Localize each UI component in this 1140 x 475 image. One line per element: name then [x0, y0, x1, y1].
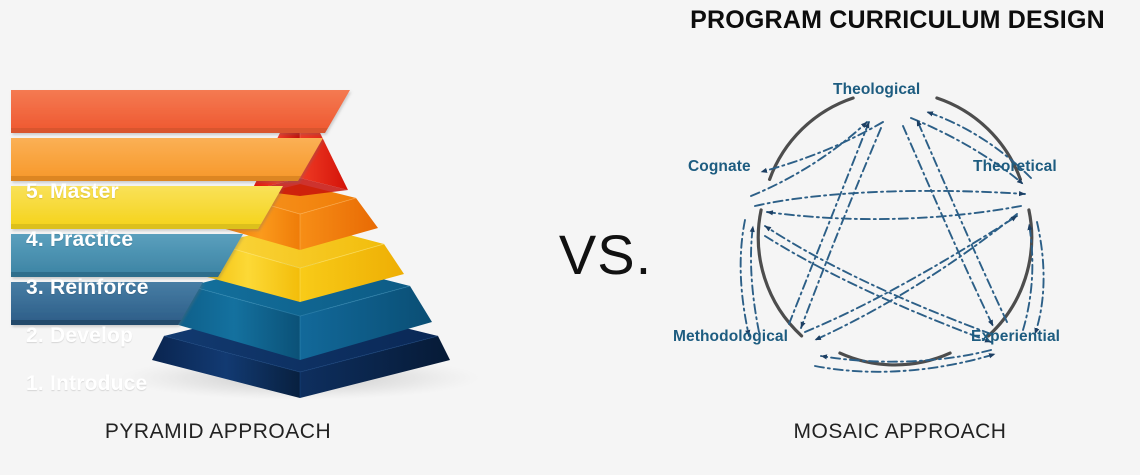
link-theological-methodological: [801, 128, 881, 328]
mosaic-approach-figure: Theological Theoretical Experiential Met…: [655, 60, 1135, 400]
node-label-theological[interactable]: Theological: [833, 81, 920, 99]
pyramid-approach-figure: 5. Master 4. Practice 3. Reinforce 2. De…: [0, 78, 520, 408]
link-cognate-theological: [751, 122, 867, 196]
link-theoretical-cognate: [767, 206, 1021, 219]
arc-methodological-cognate: [758, 210, 801, 336]
pyramid-approach-caption: PYRAMID APPROACH: [28, 420, 408, 444]
link-cognate-methodological: [741, 220, 749, 336]
versus-label: VS.: [548, 222, 663, 287]
arc-cognate-theological: [770, 98, 854, 179]
band-master[interactable]: [11, 90, 350, 133]
pyramid-graphic: [0, 78, 520, 408]
band-introduce[interactable]: [11, 282, 203, 325]
node-label-methodological[interactable]: Methodological: [673, 328, 788, 346]
link-experiential-cognate: [765, 226, 991, 334]
band-reinforce[interactable]: [11, 186, 283, 229]
page-title: PROGRAM CURRICULUM DESIGN: [660, 6, 1135, 35]
mosaic-approach-caption: MOSAIC APPROACH: [690, 420, 1110, 444]
node-label-cognate[interactable]: Cognate: [688, 158, 751, 176]
node-label-experiential[interactable]: Experiential: [971, 328, 1060, 346]
band-practice[interactable]: [11, 138, 323, 181]
link-experiential-theological: [917, 120, 1007, 322]
link-methodological-experiential: [815, 354, 995, 372]
link-cognate-theoretical: [755, 191, 1025, 206]
link-cognate-experiential: [765, 236, 991, 342]
node-label-theoretical[interactable]: Theoretical: [973, 158, 1057, 176]
link-theoretical-experiential: [1035, 222, 1044, 334]
link-theological-experiential: [903, 126, 993, 326]
mosaic-graphic: [655, 60, 1135, 400]
arc-theoretical-experiential: [988, 210, 1031, 336]
band-develop[interactable]: [11, 234, 243, 277]
